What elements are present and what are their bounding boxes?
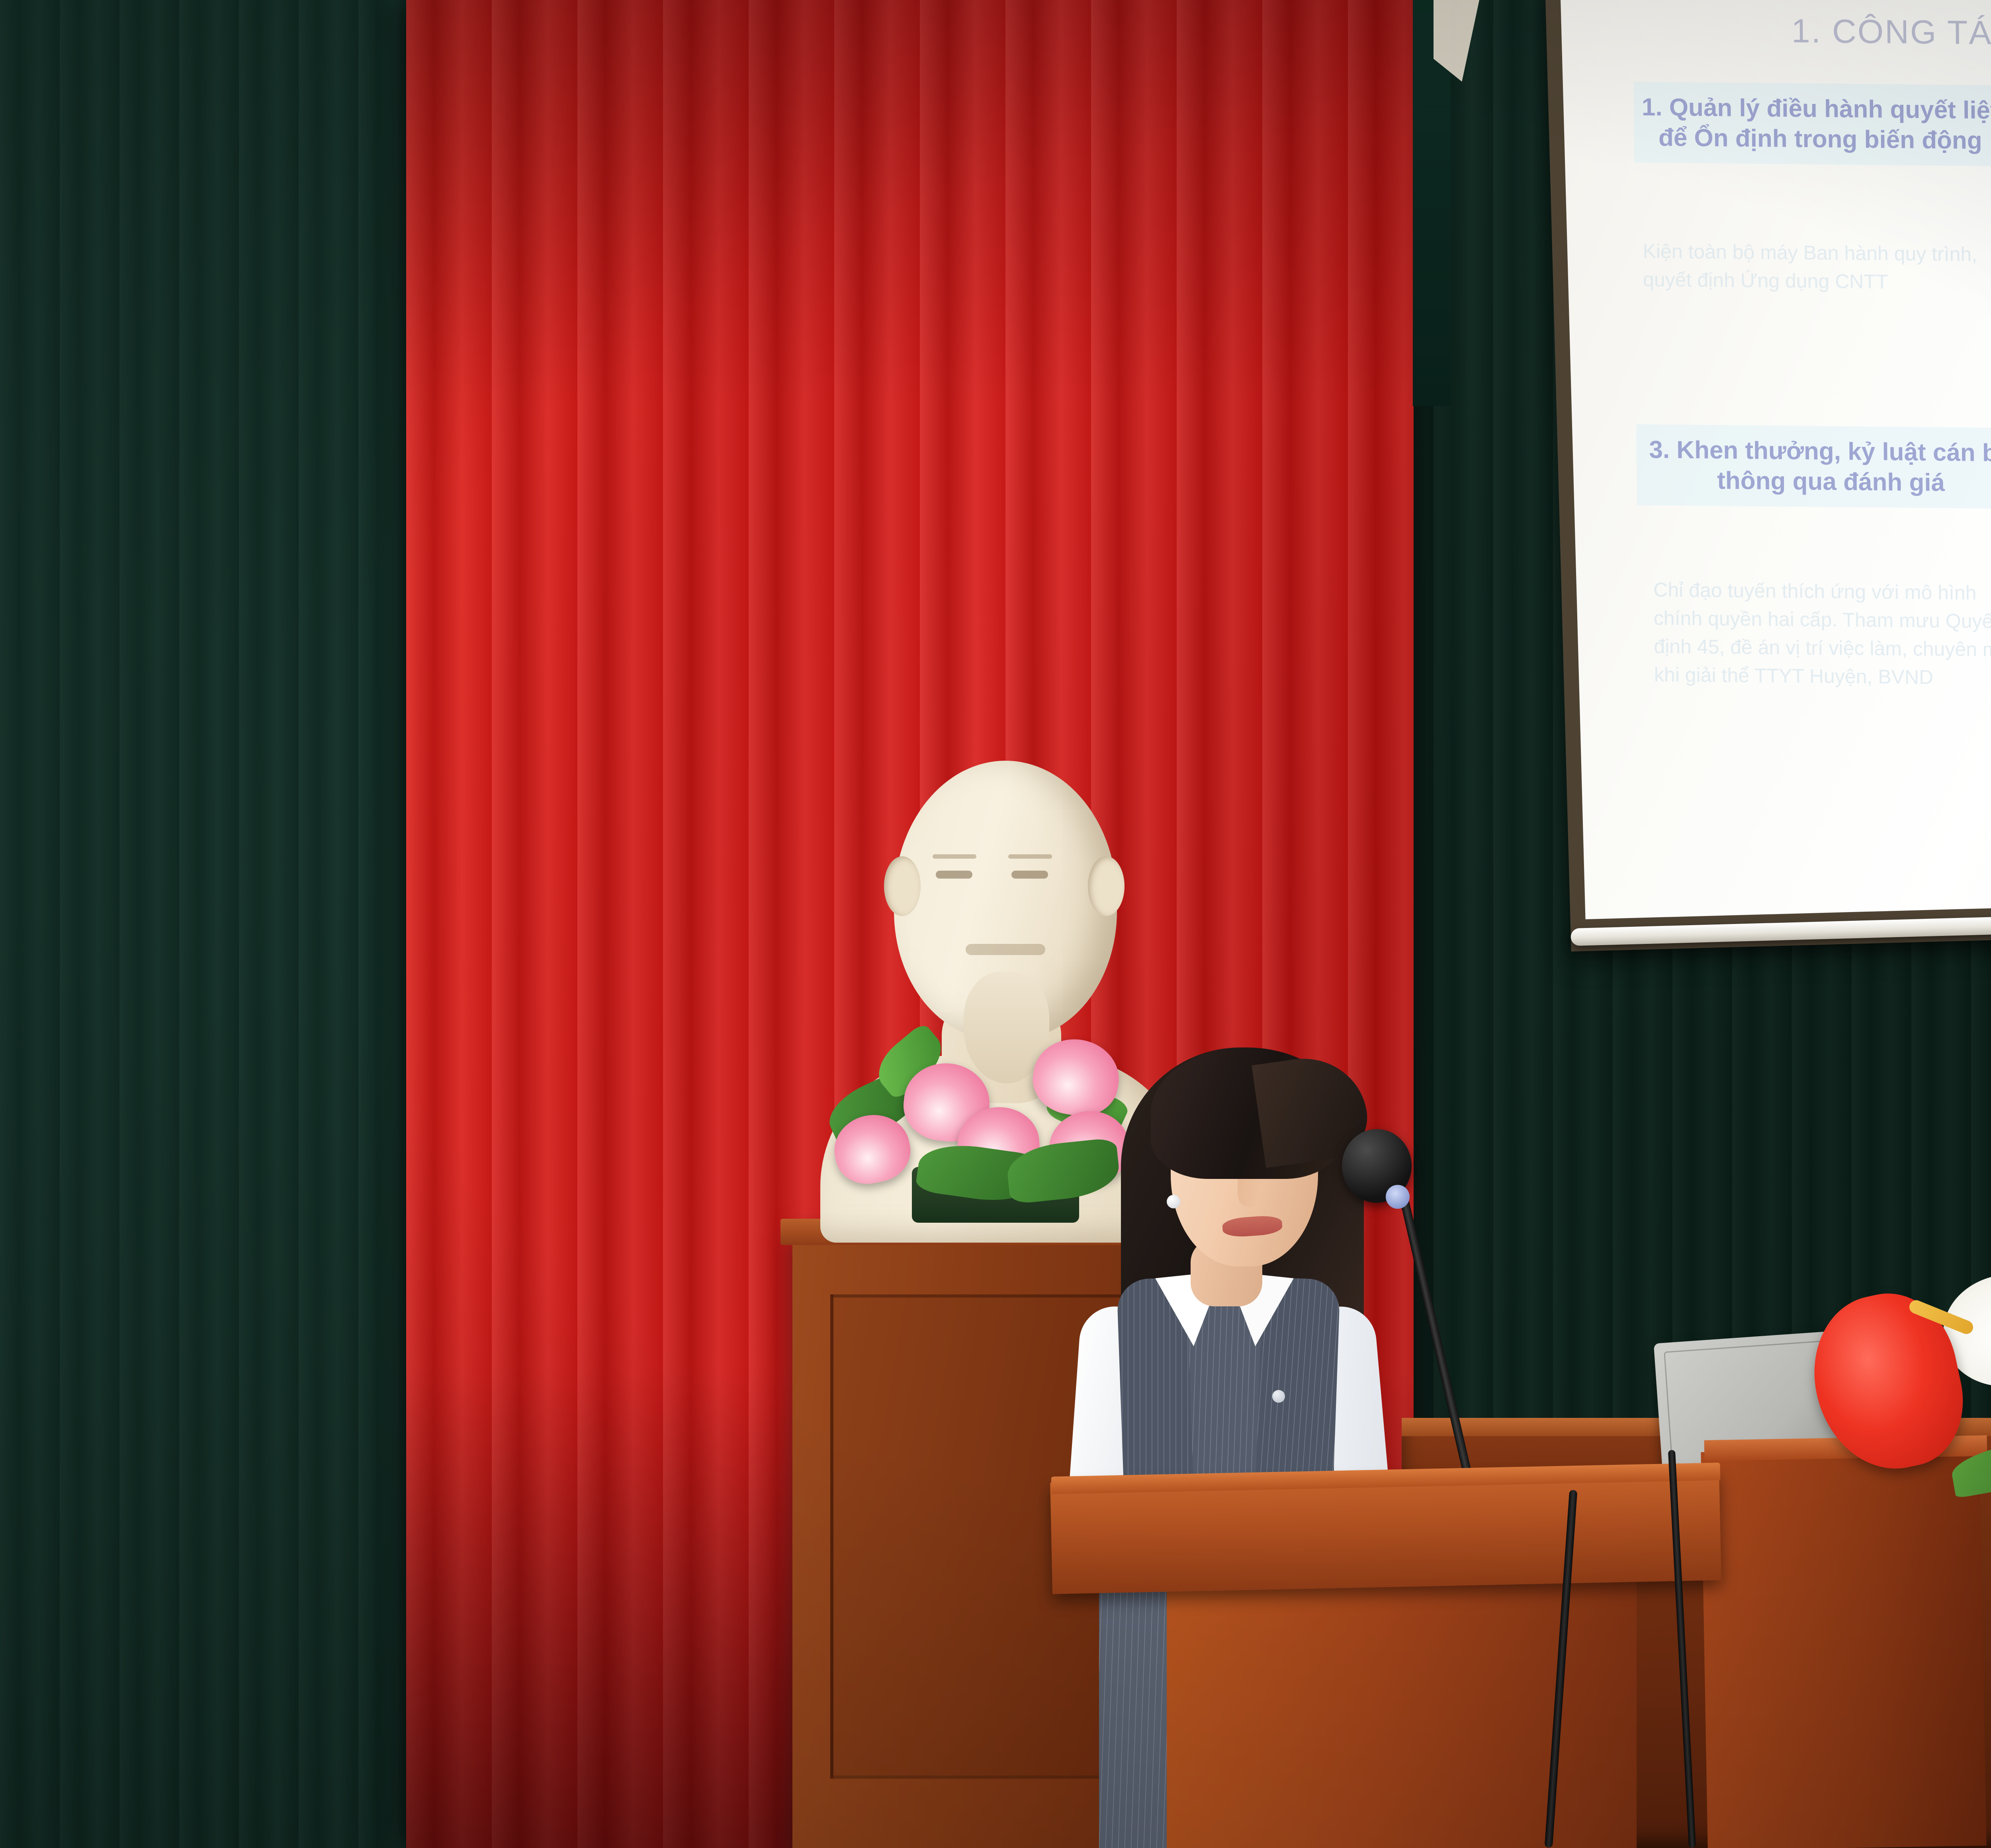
bouquet-fern-frond bbox=[1948, 1429, 1991, 1498]
presentation-slide: 1. CÔNG TÁC QUẢN LÝ, ĐIỀU HÀNH, THAM MƯU… bbox=[1569, 0, 1991, 909]
bust-ear-left bbox=[884, 856, 921, 916]
slide-box-3-body: Chỉ đạo tuyến thích ứng với mô hình chín… bbox=[1653, 576, 1991, 693]
slide-box-3-heading: 3. Khen thưởng, kỷ luật cán bộ thông qua… bbox=[1636, 424, 1991, 509]
bust-eye-right bbox=[1011, 871, 1048, 879]
decorative-bouquet bbox=[1784, 1195, 1991, 1673]
bust-moustache bbox=[966, 944, 1045, 955]
speaker-earring bbox=[1167, 1195, 1180, 1208]
slide-box-1-body: Kiện toàn bộ máy Ban hành quy trình, quy… bbox=[1643, 237, 1991, 297]
screen-surface: 1. CÔNG TÁC QUẢN LÝ, ĐIỀU HÀNH, THAM MƯU… bbox=[1560, 0, 1991, 919]
bust-brow-left bbox=[933, 854, 976, 859]
projection-screen: 1. CÔNG TÁC QUẢN LÝ, ĐIỀU HÀNH, THAM MƯU… bbox=[1545, 0, 1991, 971]
bust-eye-left bbox=[936, 871, 972, 879]
microphone-ring-light bbox=[1386, 1185, 1410, 1209]
slide-title: 1. CÔNG TÁC QUẢN LÝ, ĐIỀU HÀNH, THAM MƯU bbox=[1705, 11, 1991, 59]
conference-photo: 1. CÔNG TÁC QUẢN LÝ, ĐIỀU HÀNH, THAM MƯU… bbox=[0, 0, 1991, 1848]
bust-brow-right bbox=[1008, 854, 1052, 859]
speaker-shirt-button bbox=[1272, 1390, 1285, 1403]
slide-box-1-heading: 1. Quản lý điều hành quyết liệt để Ổn đị… bbox=[1633, 82, 1991, 166]
